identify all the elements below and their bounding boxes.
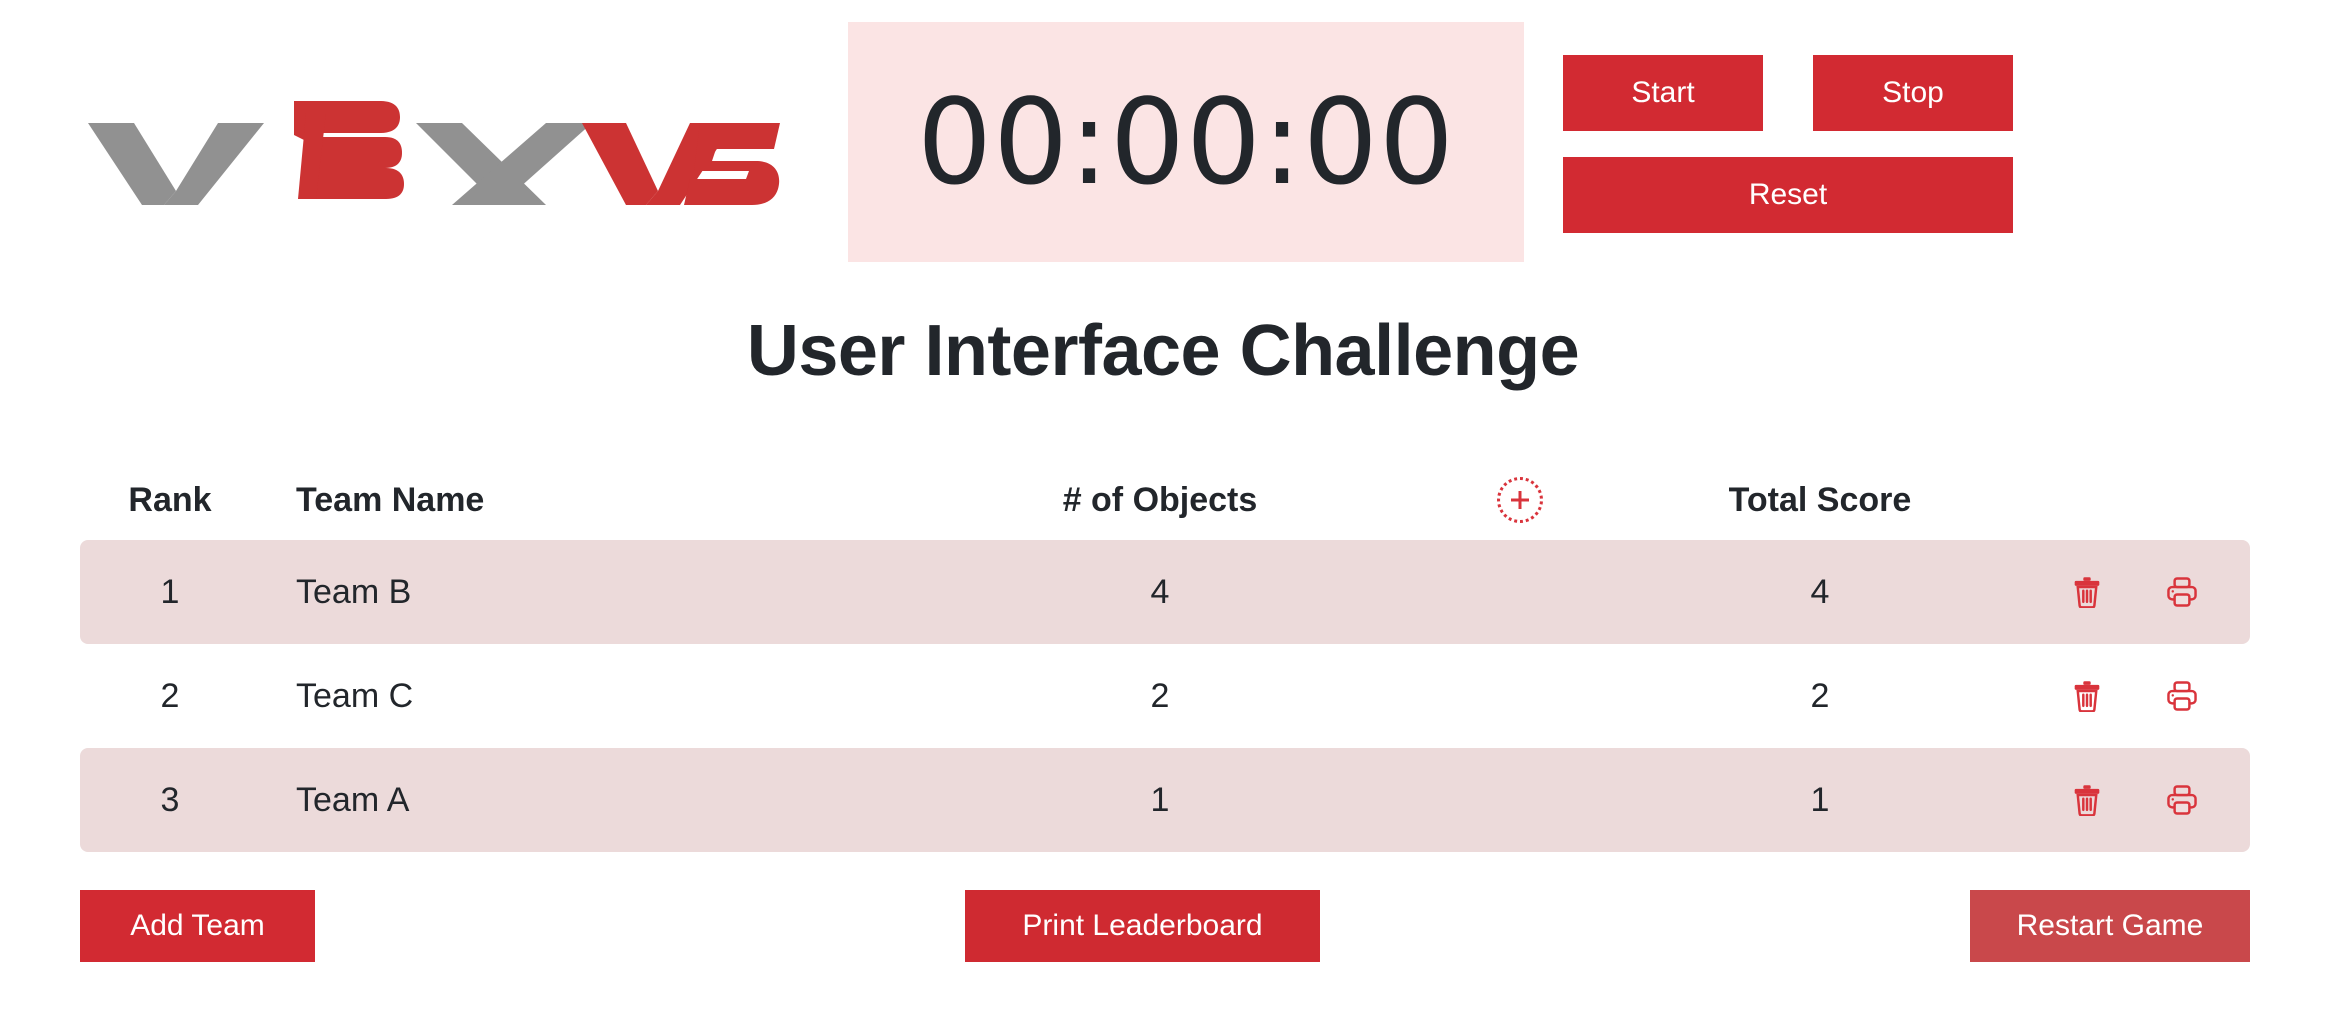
cell-team-name: Team B [260, 573, 900, 612]
print-icon[interactable] [2166, 576, 2198, 608]
cell-num-objects: 4 [900, 573, 1420, 612]
cell-actions [2020, 784, 2250, 816]
reset-button[interactable]: Reset [1563, 157, 2013, 233]
cell-num-objects: 2 [900, 677, 1420, 716]
cell-team-name: Team A [260, 781, 900, 820]
cell-rank: 1 [80, 573, 260, 612]
cell-actions [2020, 680, 2250, 712]
header-total-score: Total Score [1620, 481, 2020, 520]
leaderboard-table: Rank Team Name # of Objects Total Score … [80, 460, 2250, 852]
timer-display: 00:00:00 [848, 22, 1524, 262]
cell-total-score: 4 [1620, 573, 2020, 612]
header-add-column-cell [1420, 477, 1620, 523]
delete-icon[interactable] [2072, 784, 2102, 816]
top-bar: 00:00:00 Start Stop Reset [0, 0, 2326, 270]
delete-icon[interactable] [2072, 576, 2102, 608]
timer-value: 00:00:00 [917, 83, 1455, 201]
delete-icon[interactable] [2072, 680, 2102, 712]
app-root: 00:00:00 Start Stop Reset User Interface… [0, 0, 2326, 1034]
start-button[interactable]: Start [1563, 55, 1763, 131]
table-row[interactable]: 3 Team A 1 1 [80, 748, 2250, 852]
add-team-button[interactable]: Add Team [80, 890, 315, 962]
cell-team-name: Team C [260, 677, 900, 716]
print-icon[interactable] [2166, 784, 2198, 816]
vex-v5-logo [80, 95, 780, 205]
restart-game-button[interactable]: Restart Game [1970, 890, 2250, 962]
cell-rank: 2 [80, 677, 260, 716]
cell-num-objects: 1 [900, 781, 1420, 820]
cell-total-score: 1 [1620, 781, 2020, 820]
table-row[interactable]: 1 Team B 4 4 [80, 540, 2250, 644]
add-column-icon[interactable] [1497, 477, 1543, 523]
table-header-row: Rank Team Name # of Objects Total Score [80, 460, 2250, 540]
stop-button[interactable]: Stop [1813, 55, 2013, 131]
header-team-name: Team Name [260, 481, 900, 520]
header-rank: Rank [80, 481, 260, 520]
header-num-objects: # of Objects [900, 481, 1420, 520]
page-title: User Interface Challenge [0, 310, 2326, 392]
print-icon[interactable] [2166, 680, 2198, 712]
cell-actions [2020, 576, 2250, 608]
table-row[interactable]: 2 Team C 2 2 [80, 644, 2250, 748]
cell-total-score: 2 [1620, 677, 2020, 716]
cell-rank: 3 [80, 781, 260, 820]
print-leaderboard-button[interactable]: Print Leaderboard [965, 890, 1320, 962]
